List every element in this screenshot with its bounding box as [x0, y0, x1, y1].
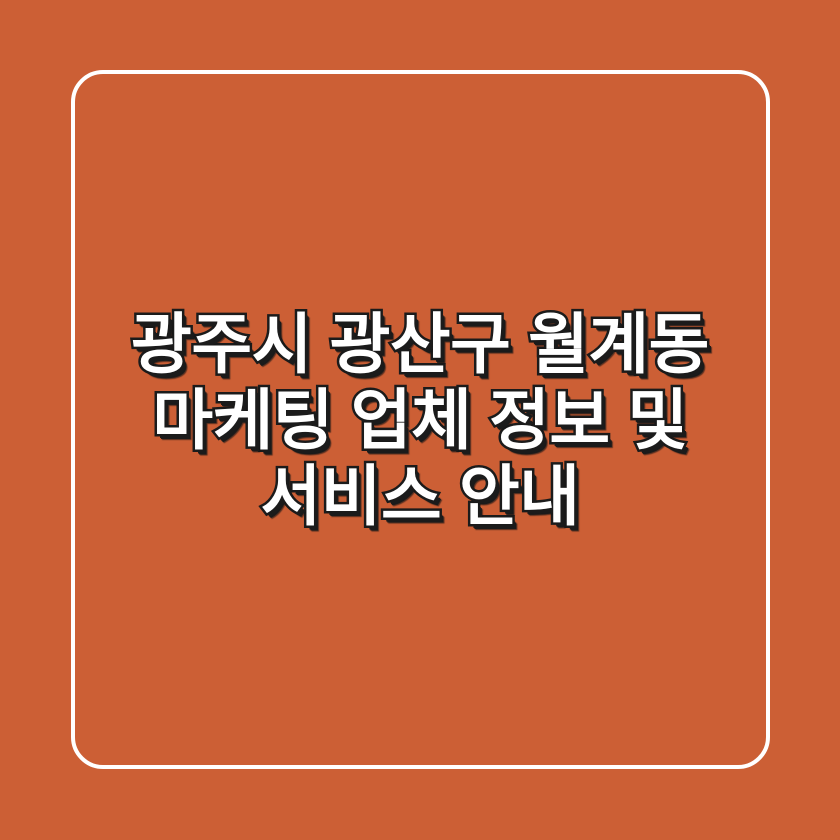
- headline-line-1: 광주시 광산구 월계동: [0, 306, 840, 382]
- headline-block: 광주시 광산구 월계동 마케팅 업체 정보 및 서비스 안내: [0, 0, 840, 840]
- poster-canvas: 광주시 광산구 월계동 마케팅 업체 정보 및 서비스 안내: [0, 0, 840, 840]
- headline-line-3: 서비스 안내: [0, 458, 840, 534]
- headline-line-2: 마케팅 업체 정보 및: [0, 382, 840, 458]
